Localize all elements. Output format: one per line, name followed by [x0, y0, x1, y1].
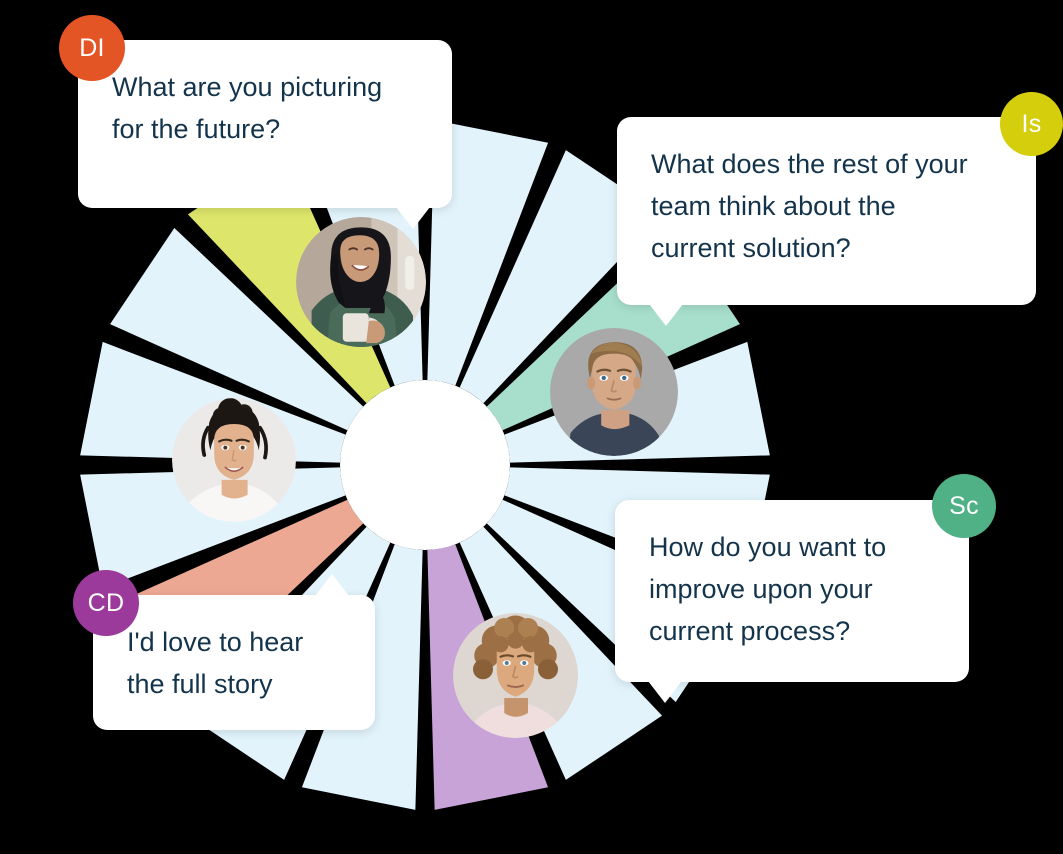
speech-bubble-di-text: What are you picturing for the future? [112, 66, 418, 150]
avatar-woman-with-hijab[interactable] [296, 217, 426, 347]
badge-cd[interactable]: CD [73, 570, 139, 636]
speech-bubble-sc[interactable]: How do you want to improve upon your cur… [615, 500, 969, 682]
speech-bubble-is-text: What does the rest of your team think ab… [651, 143, 1002, 269]
badge-sc-label: Sc [949, 492, 979, 521]
badge-is[interactable]: Is [1000, 92, 1063, 156]
badge-is-label: Is [1021, 110, 1041, 139]
illustration-canvas: What are you picturing for the future? D… [0, 0, 1063, 854]
avatar-woman-dark-bun[interactable] [172, 398, 296, 522]
avatar-man-gray-background[interactable] [550, 328, 678, 456]
wheel-center-hub [340, 380, 510, 550]
speech-bubble-cd-tail [315, 574, 349, 596]
badge-di[interactable]: DI [59, 15, 125, 81]
speech-bubble-cd-text: I'd love to hear the full story [127, 621, 341, 705]
speech-bubble-is[interactable]: What does the rest of your team think ab… [617, 117, 1036, 305]
badge-di-label: DI [79, 34, 105, 63]
speech-bubble-di-tail [396, 207, 430, 229]
speech-bubble-is-tail [649, 304, 683, 326]
speech-bubble-sc-text: How do you want to improve upon your cur… [649, 526, 935, 652]
badge-cd-label: CD [88, 589, 125, 618]
badge-sc[interactable]: Sc [932, 474, 996, 538]
speech-bubble-sc-tail [648, 681, 682, 703]
avatar-man-curly-hair[interactable] [453, 613, 578, 738]
speech-bubble-di[interactable]: What are you picturing for the future? [78, 40, 452, 208]
